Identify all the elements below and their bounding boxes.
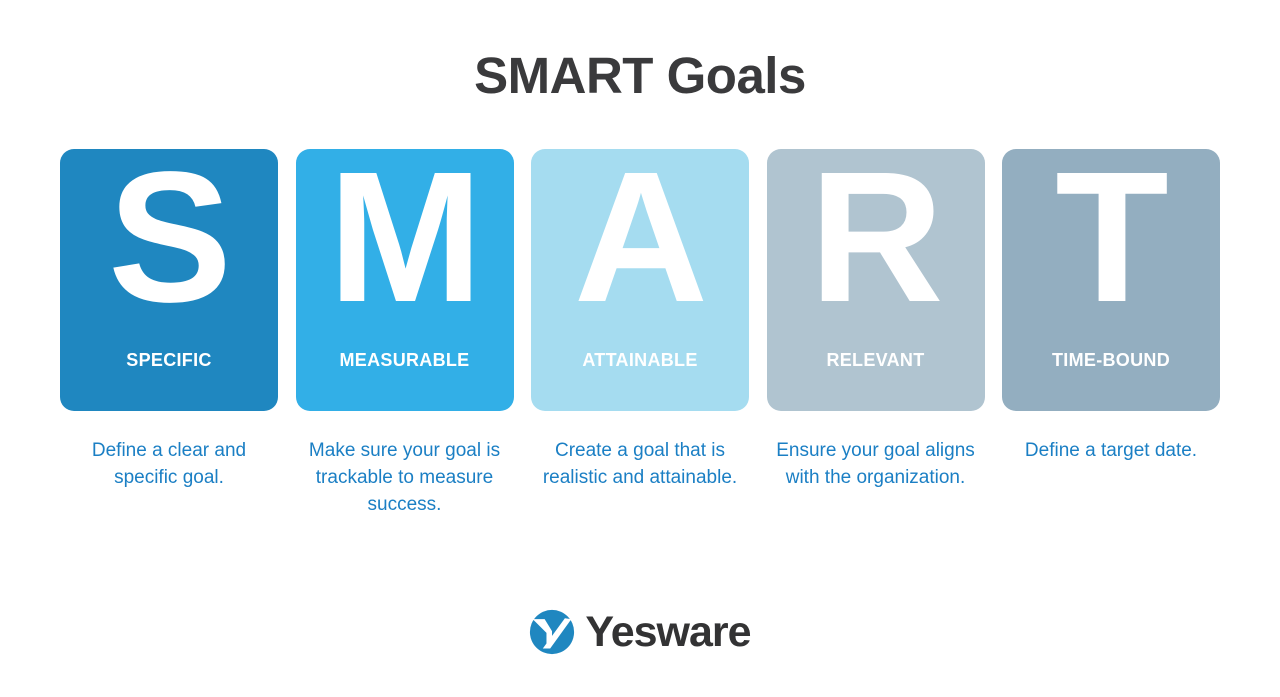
card-letter: A [574,163,706,313]
smart-goals-infographic: SMART Goals S SPECIFIC Define a clear an… [0,0,1280,697]
smart-card-measurable: M MEASURABLE Make sure your goal is trac… [296,149,514,519]
card-description: Define a clear and specific goal. [60,438,278,492]
yesware-y-circle-icon [529,609,575,655]
card-label: MEASURABLE [296,350,514,371]
card-label: RELEVANT [767,350,985,371]
card-tile-attainable[interactable]: A ATTAINABLE [531,149,749,411]
page-title: SMART Goals [474,48,806,104]
card-letter: M [328,163,481,313]
card-description: Make sure your goal is trackable to meas… [296,438,514,519]
card-tile-measurable[interactable]: M MEASURABLE [296,149,514,411]
smart-card-relevant: R RELEVANT Ensure your goal aligns with … [767,149,985,492]
card-letter: R [809,163,941,313]
card-description: Define a target date. [1002,438,1220,465]
brand-logo: Yesware [0,609,1280,655]
card-tile-specific[interactable]: S SPECIFIC [60,149,278,411]
card-description: Ensure your goal aligns with the organiz… [767,438,985,492]
smart-card-specific: S SPECIFIC Define a clear and specific g… [60,149,278,492]
brand-name: Yesware [585,611,750,654]
smart-card-time-bound: T TIME-BOUND Define a target date. [1002,149,1220,465]
card-letter: T [1055,163,1167,313]
card-description: Create a goal that is realistic and atta… [531,438,749,492]
smart-card-attainable: A ATTAINABLE Create a goal that is reali… [531,149,749,492]
card-label: TIME-BOUND [1002,350,1220,371]
card-tile-relevant[interactable]: R RELEVANT [767,149,985,411]
card-letter: S [108,163,230,313]
card-tile-time-bound[interactable]: T TIME-BOUND [1002,149,1220,411]
smart-cards-row: S SPECIFIC Define a clear and specific g… [60,149,1220,519]
card-label: SPECIFIC [60,350,278,371]
card-label: ATTAINABLE [531,350,749,371]
